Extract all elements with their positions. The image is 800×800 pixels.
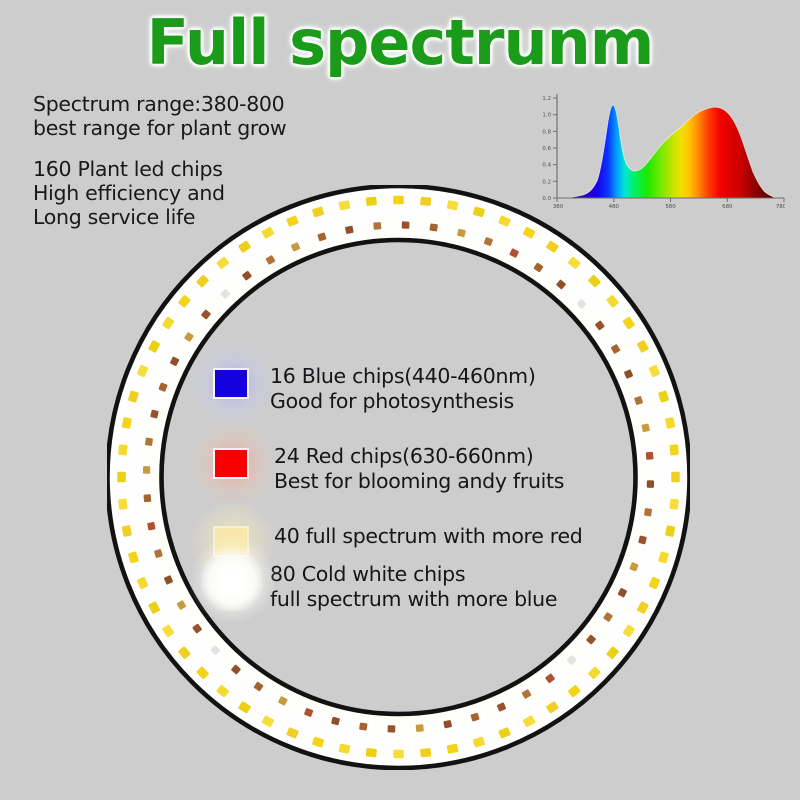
- cold-white-chip-swatch: [201, 551, 263, 611]
- led-chip-inner: [443, 720, 452, 729]
- led-chip-outer: [118, 444, 127, 455]
- led-chip-inner: [388, 725, 396, 732]
- red-chip-swatch: [213, 448, 249, 479]
- chip-count-line-1: 160 Plant led chips: [33, 157, 286, 181]
- led-chip-outer: [420, 197, 431, 206]
- led-chip-inner: [373, 222, 381, 230]
- led-chip-outer: [366, 748, 377, 757]
- led-chip-outer: [671, 472, 680, 483]
- text-gap: [33, 140, 286, 157]
- legend-item-cold-white: 80 Cold white chips full spectrum with m…: [203, 554, 557, 612]
- led-chip-inner: [646, 452, 654, 460]
- y-tick-label: 1.0: [542, 113, 551, 119]
- x-tick-label: 680: [722, 204, 733, 210]
- led-chip-outer: [420, 748, 431, 757]
- legend-item-red: 24 Red chips(630-660nm) Best for bloomin…: [203, 438, 564, 494]
- legend-item-blue: 16 Blue chips(440-460nm) Good for photos…: [203, 358, 536, 414]
- infographic-canvas: Full spectrunm Spectrum range:380-800 be…: [0, 0, 800, 800]
- y-tick-label: 0.8: [542, 129, 551, 135]
- legend-label-red: 24 Red chips(630-660nm) Best for bloomin…: [265, 438, 564, 494]
- led-chip-inner: [143, 466, 150, 474]
- led-chip-inner: [147, 522, 156, 531]
- led-chip-outer: [669, 444, 678, 455]
- blue-chip-swatch: [213, 368, 249, 399]
- led-chip-inner: [359, 722, 368, 730]
- y-tick-label: 0.4: [542, 163, 551, 169]
- led-chip-outer: [117, 472, 126, 483]
- blue-swatch-wrap: [203, 358, 265, 414]
- spectrum-range-text: Spectrum range:380-800 best range for pl…: [33, 92, 286, 140]
- spectrum-range-line-1: Spectrum range:380-800: [33, 92, 286, 116]
- legend-white-line-1: 80 Cold white chips: [270, 562, 465, 586]
- led-chip-outer: [669, 499, 678, 510]
- led-chip-inner: [416, 724, 424, 732]
- legend-blue-line-2: Good for photosynthesis: [270, 389, 536, 414]
- led-chip-outer: [118, 499, 127, 510]
- x-tick-label: 780: [776, 204, 785, 210]
- legend-label-cold-white: 80 Cold white chips full spectrum with m…: [265, 554, 557, 612]
- legend-red-line-2: Best for blooming andy fruits: [274, 469, 564, 494]
- legend-white-line-2: full spectrum with more blue: [270, 587, 557, 612]
- led-chip-inner: [429, 223, 438, 231]
- led-chip-inner: [143, 494, 151, 502]
- spectrum-range-line-2: best range for plant grow: [33, 116, 286, 140]
- led-chip-outer: [393, 196, 404, 205]
- y-tick-label: 1.2: [542, 96, 551, 102]
- led-chip-inner: [644, 508, 652, 517]
- led-chip-outer: [393, 750, 404, 759]
- led-chip-outer: [366, 197, 377, 206]
- legend-blue-line-1: 16 Blue chips(440-460nm): [270, 364, 536, 388]
- red-swatch-wrap: [203, 438, 265, 494]
- legend-label-blue: 16 Blue chips(440-460nm) Good for photos…: [265, 358, 536, 414]
- legend-label-warm-white: 40 full spectrum with more red: [265, 516, 582, 549]
- led-chip-inner: [145, 438, 153, 447]
- y-tick-label: 0.6: [542, 146, 551, 152]
- legend-red-line-1: 24 Red chips(630-660nm): [274, 444, 533, 468]
- page-title: Full spectrunm: [0, 6, 800, 79]
- led-chip-inner: [641, 423, 650, 432]
- white-swatch-wrap: [203, 554, 265, 610]
- legend-warm-line-1: 40 full spectrum with more red: [274, 524, 582, 548]
- led-chip-inner: [345, 226, 354, 235]
- led-chip-inner: [647, 480, 654, 488]
- led-chip-inner: [402, 221, 410, 228]
